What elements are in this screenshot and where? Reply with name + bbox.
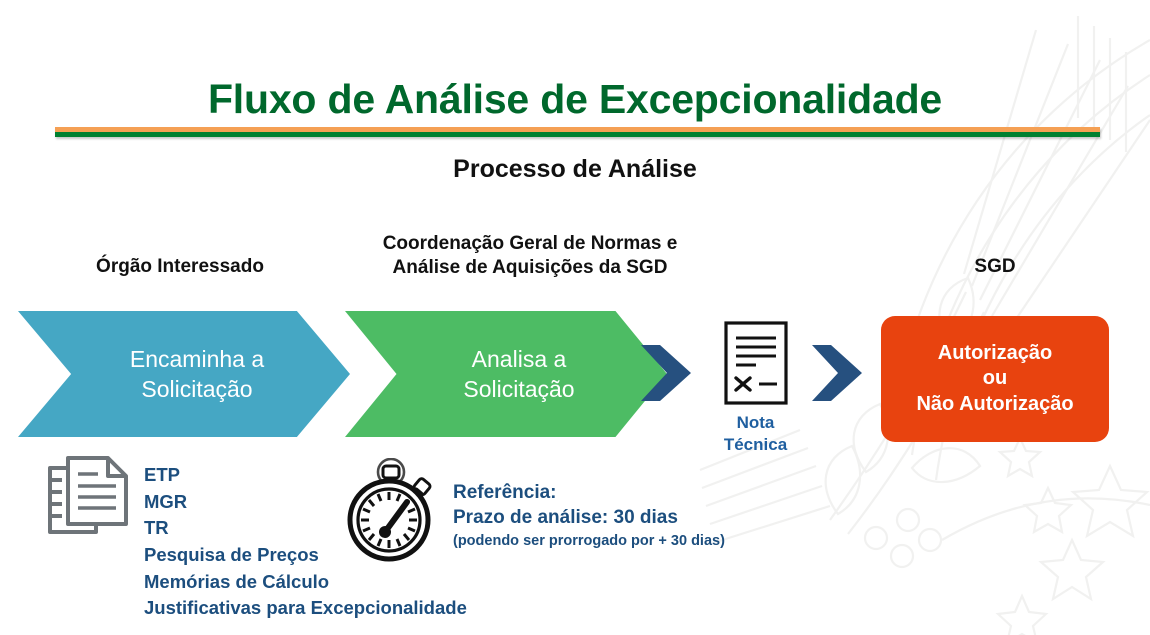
document-item-justificativas: Justificativas para Excepcionalidade xyxy=(144,595,467,622)
column-header-cgnaa-line1: Coordenação Geral de Normas e xyxy=(330,232,730,256)
column-header-orgao-interessado: Órgão Interessado xyxy=(30,255,330,279)
result-line3: Não Autorização xyxy=(916,392,1073,418)
result-line2: ou xyxy=(983,366,1007,392)
nota-label-line1: Nota xyxy=(703,412,808,434)
reference-prazo: Prazo de análise: 30 dias xyxy=(453,505,725,530)
result-line1: Autorização xyxy=(938,341,1052,367)
column-header-coordenacao-geral: Coordenação Geral de Normas e Análise de… xyxy=(330,232,730,280)
slide-canvas: Fluxo de Análise de Excepcionalidade Pro… xyxy=(0,0,1150,635)
reference-deadline-block: Referência: Prazo de análise: 30 dias (p… xyxy=(345,458,725,562)
column-header-cgnaa-line2: Análise de Aquisições da SGD xyxy=(330,256,730,280)
nota-tecnica-label: Nota Técnica xyxy=(703,412,808,456)
process-step-encaminha-solicitacao[interactable]: Encaminha a Solicitação xyxy=(18,311,350,437)
nota-label-line2: Técnica xyxy=(703,434,808,456)
stopwatch-icon xyxy=(345,458,441,562)
reference-note: (podendo ser prorrogado por + 30 dias) xyxy=(453,531,725,551)
page-title: Fluxo de Análise de Excepcionalidade xyxy=(0,76,1150,123)
reference-title: Referência: xyxy=(453,480,725,505)
document-stack-icon xyxy=(44,454,132,546)
column-header-sgd: SGD xyxy=(880,255,1110,279)
process-step-analisa-solicitacao[interactable]: Analisa a Solicitação xyxy=(345,311,667,437)
title-underline-rule xyxy=(55,127,1100,137)
chevron-right-arrow-icon-2 xyxy=(812,345,862,401)
step1-line2: Solicitação xyxy=(130,374,264,404)
document-with-signature-icon xyxy=(723,320,789,406)
reference-text-block: Referência: Prazo de análise: 30 dias (p… xyxy=(453,480,725,551)
rule-green-bar xyxy=(55,132,1100,137)
step1-line1: Encaminha a xyxy=(130,344,264,374)
step2-line1: Analisa a xyxy=(463,344,574,374)
result-box-autorizacao[interactable]: Autorização ou Não Autorização xyxy=(881,316,1109,442)
step2-line2: Solicitação xyxy=(463,374,574,404)
nota-tecnica-block: Nota Técnica xyxy=(703,320,808,456)
document-item-memorias-de-calculo: Memórias de Cálculo xyxy=(144,569,467,596)
page-subtitle: Processo de Análise xyxy=(0,155,1150,184)
